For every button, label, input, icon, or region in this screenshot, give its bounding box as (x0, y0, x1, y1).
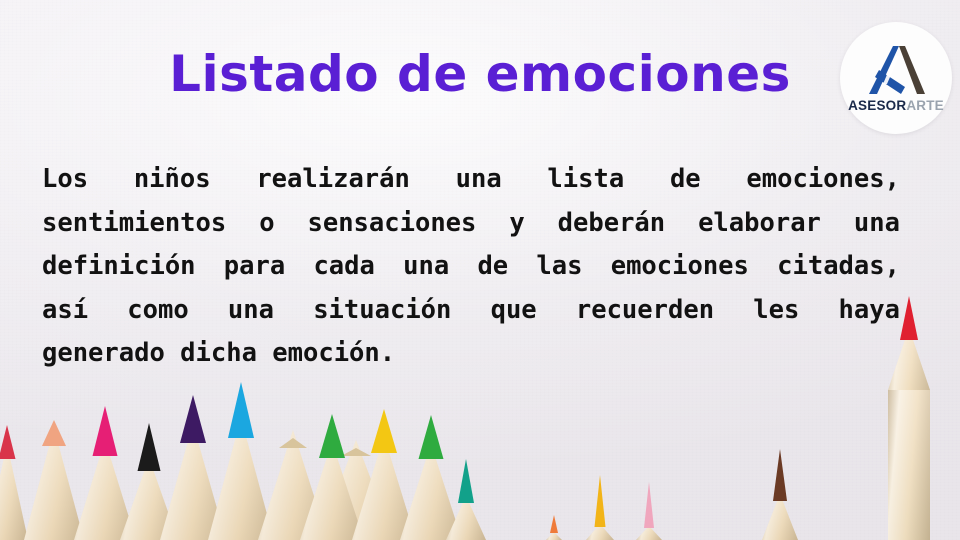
body-word: lista (547, 158, 624, 202)
pencil-lead-tip (279, 438, 307, 448)
pencil-red-edge (0, 410, 28, 540)
body-word: sentimientos (42, 202, 226, 246)
pencil-orange-small (546, 514, 562, 540)
brand-name-primary: ASESOR (848, 98, 906, 113)
pencil-lead-tip (900, 296, 918, 340)
body-word: haya (839, 289, 900, 333)
pencil-teal (446, 452, 486, 540)
pencil-wood (160, 424, 226, 540)
pencil-wood (258, 430, 328, 540)
body-line-2: sentimientos o sensaciones y deberán ela… (42, 202, 900, 246)
pencil-barrel (888, 390, 930, 540)
pencil-wood-bare-1 (258, 420, 328, 540)
asesorarte-a-mark-icon (865, 44, 927, 96)
body-word: una (228, 289, 274, 333)
pencil-lead-tip (228, 382, 254, 438)
body-word: una (456, 158, 502, 202)
pencil-wood (300, 442, 364, 540)
pencil-wood (446, 496, 486, 540)
body-word: sensaciones (308, 202, 477, 246)
body-line-5: generado dicha emoción. (42, 332, 900, 376)
body-paragraph: Los niños realizarán una lista de emocio… (42, 158, 900, 376)
pencil-lead-tip (42, 420, 66, 446)
pencil-lead-tip (371, 409, 397, 453)
body-word: definición (42, 245, 196, 289)
pencil-black (120, 410, 178, 540)
body-word: cada (313, 245, 374, 289)
pencil-wood (24, 428, 84, 540)
pencil-wood (400, 444, 462, 540)
brand-name-secondary: ARTE (906, 98, 944, 113)
body-word: una (854, 202, 900, 246)
body-word: y (509, 202, 524, 246)
pencil-lead-tip (595, 475, 606, 527)
body-word: que (491, 289, 537, 333)
pencil-wood (74, 440, 136, 540)
body-word: como (127, 289, 188, 333)
body-line-4: así como una situación que recuerden les… (42, 289, 900, 333)
body-word: de (670, 158, 701, 202)
body-word: o (259, 202, 274, 246)
pencil-yellow (352, 392, 416, 540)
pencil-lead-tip (644, 482, 654, 528)
pencil-wood (636, 526, 662, 540)
body-word: Los (42, 158, 88, 202)
pencil-wood (318, 440, 394, 540)
slide-canvas: Listado de emociones Los niños realizará… (0, 0, 960, 540)
body-word: así (42, 289, 88, 333)
body-word: citadas, (777, 245, 900, 289)
pencil-dark-purple (160, 376, 226, 540)
brand-logo-text: ASESORARTE (848, 99, 944, 113)
pencil-lead-tip (0, 425, 16, 459)
body-line-3: definición para cada una de las emocione… (42, 245, 900, 289)
pencil-wood (208, 418, 274, 540)
body-word: les (753, 289, 799, 333)
pencil-lead-tip (93, 406, 118, 456)
pencil-green-2 (400, 400, 462, 540)
pencil-wood (586, 524, 614, 540)
pencil-wood (352, 436, 416, 540)
body-word: para (224, 245, 285, 289)
pencil-wood-bare-2 (318, 432, 394, 540)
pencil-cyan (208, 362, 274, 540)
body-word: emociones (611, 245, 749, 289)
body-word: niños (134, 158, 211, 202)
body-line-1: Los niños realizarán una lista de emocio… (42, 158, 900, 202)
pencil-lead-tip (138, 423, 161, 471)
body-word: realizarán (256, 158, 410, 202)
pencil-magenta (74, 390, 136, 540)
pencil-lead-tip (341, 448, 371, 456)
body-word: de (477, 245, 508, 289)
pencil-lead-tip (419, 415, 444, 459)
pencil-wood (120, 458, 178, 540)
pencil-lead-tip (180, 395, 206, 443)
pencil-green-1 (300, 398, 364, 540)
body-word: las (536, 245, 582, 289)
pencil-pink (636, 480, 662, 540)
pencil-lead-tip (458, 459, 474, 503)
pencil-wood (0, 444, 28, 540)
pencil-wood (762, 494, 798, 540)
body-word: deberán (558, 202, 665, 246)
body-word: una (403, 245, 449, 289)
pencil-wood (546, 532, 562, 540)
pencil-lead-tip (773, 449, 787, 501)
pencil-salmon (24, 402, 84, 540)
body-word: recuerden (576, 289, 714, 333)
pencil-row (0, 350, 960, 540)
body-word: situación (313, 289, 451, 333)
pencil-brown (762, 442, 798, 540)
body-word: elaborar (698, 202, 821, 246)
brand-logo: ASESORARTE (840, 22, 952, 134)
pencil-lead-tip (319, 414, 345, 458)
page-title: Listado de emociones (0, 48, 960, 101)
pencil-gold (586, 472, 614, 540)
body-word: emociones, (746, 158, 900, 202)
pencil-lead-tip (550, 515, 558, 533)
